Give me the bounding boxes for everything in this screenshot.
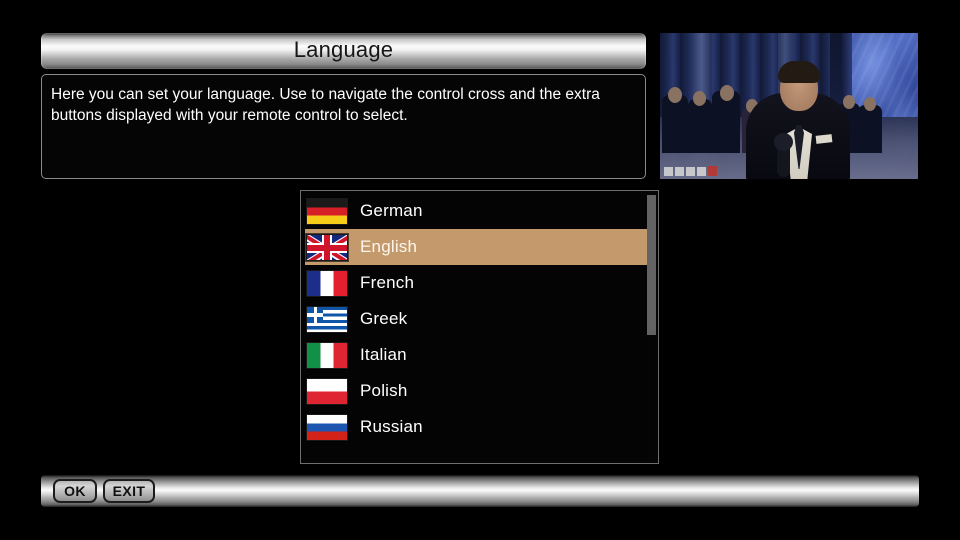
flag-germany-icon bbox=[306, 198, 348, 225]
video-pocket-square bbox=[816, 134, 833, 144]
flag-italy-icon bbox=[306, 342, 348, 369]
flag-united-kingdom-icon bbox=[306, 234, 348, 261]
flag-france-icon bbox=[306, 270, 348, 297]
language-list-item-label: French bbox=[360, 273, 414, 293]
news-logo-watermark bbox=[664, 166, 717, 176]
video-reporter-hair bbox=[778, 61, 820, 83]
language-list-item-label: Greek bbox=[360, 309, 407, 329]
microphone-head-icon bbox=[774, 133, 793, 151]
flag-greece-icon bbox=[306, 306, 348, 333]
exit-button[interactable]: EXIT bbox=[103, 479, 155, 503]
ok-button[interactable]: OK bbox=[53, 479, 97, 503]
language-list[interactable]: GermanEnglishFrenchGreekItalianPolishRus… bbox=[300, 190, 659, 464]
language-list-item[interactable]: English bbox=[305, 229, 647, 265]
list-scrollbar-thumb[interactable] bbox=[647, 195, 656, 335]
bottom-toolbar: OK EXIT bbox=[41, 475, 919, 507]
title-bar: Language bbox=[41, 33, 646, 69]
page-title: Language bbox=[41, 33, 646, 69]
description-panel: Here you can set your language. Use to n… bbox=[41, 74, 646, 179]
video-scene bbox=[660, 33, 918, 179]
description-text: Here you can set your language. Use to n… bbox=[51, 84, 635, 126]
live-tv-preview[interactable] bbox=[660, 33, 918, 179]
language-list-item-label: Italian bbox=[360, 345, 407, 365]
language-list-item-label: Polish bbox=[360, 381, 408, 401]
language-list-rows: GermanEnglishFrenchGreekItalianPolishRus… bbox=[305, 193, 647, 445]
language-list-item[interactable]: French bbox=[305, 265, 647, 301]
language-list-item[interactable]: German bbox=[305, 193, 647, 229]
language-list-item-label: English bbox=[360, 237, 417, 257]
flag-russia-icon bbox=[306, 414, 348, 441]
language-list-item[interactable]: Polish bbox=[305, 373, 647, 409]
language-list-item[interactable]: Russian bbox=[305, 409, 647, 445]
language-list-item[interactable]: Greek bbox=[305, 301, 647, 337]
tv-settings-screen: Language Here you can set your language.… bbox=[0, 0, 960, 540]
list-scrollbar-track[interactable] bbox=[648, 192, 657, 464]
language-list-item-label: Russian bbox=[360, 417, 423, 437]
language-list-item-label: German bbox=[360, 201, 423, 221]
language-list-item[interactable]: Italian bbox=[305, 337, 647, 373]
flag-poland-icon bbox=[306, 378, 348, 405]
